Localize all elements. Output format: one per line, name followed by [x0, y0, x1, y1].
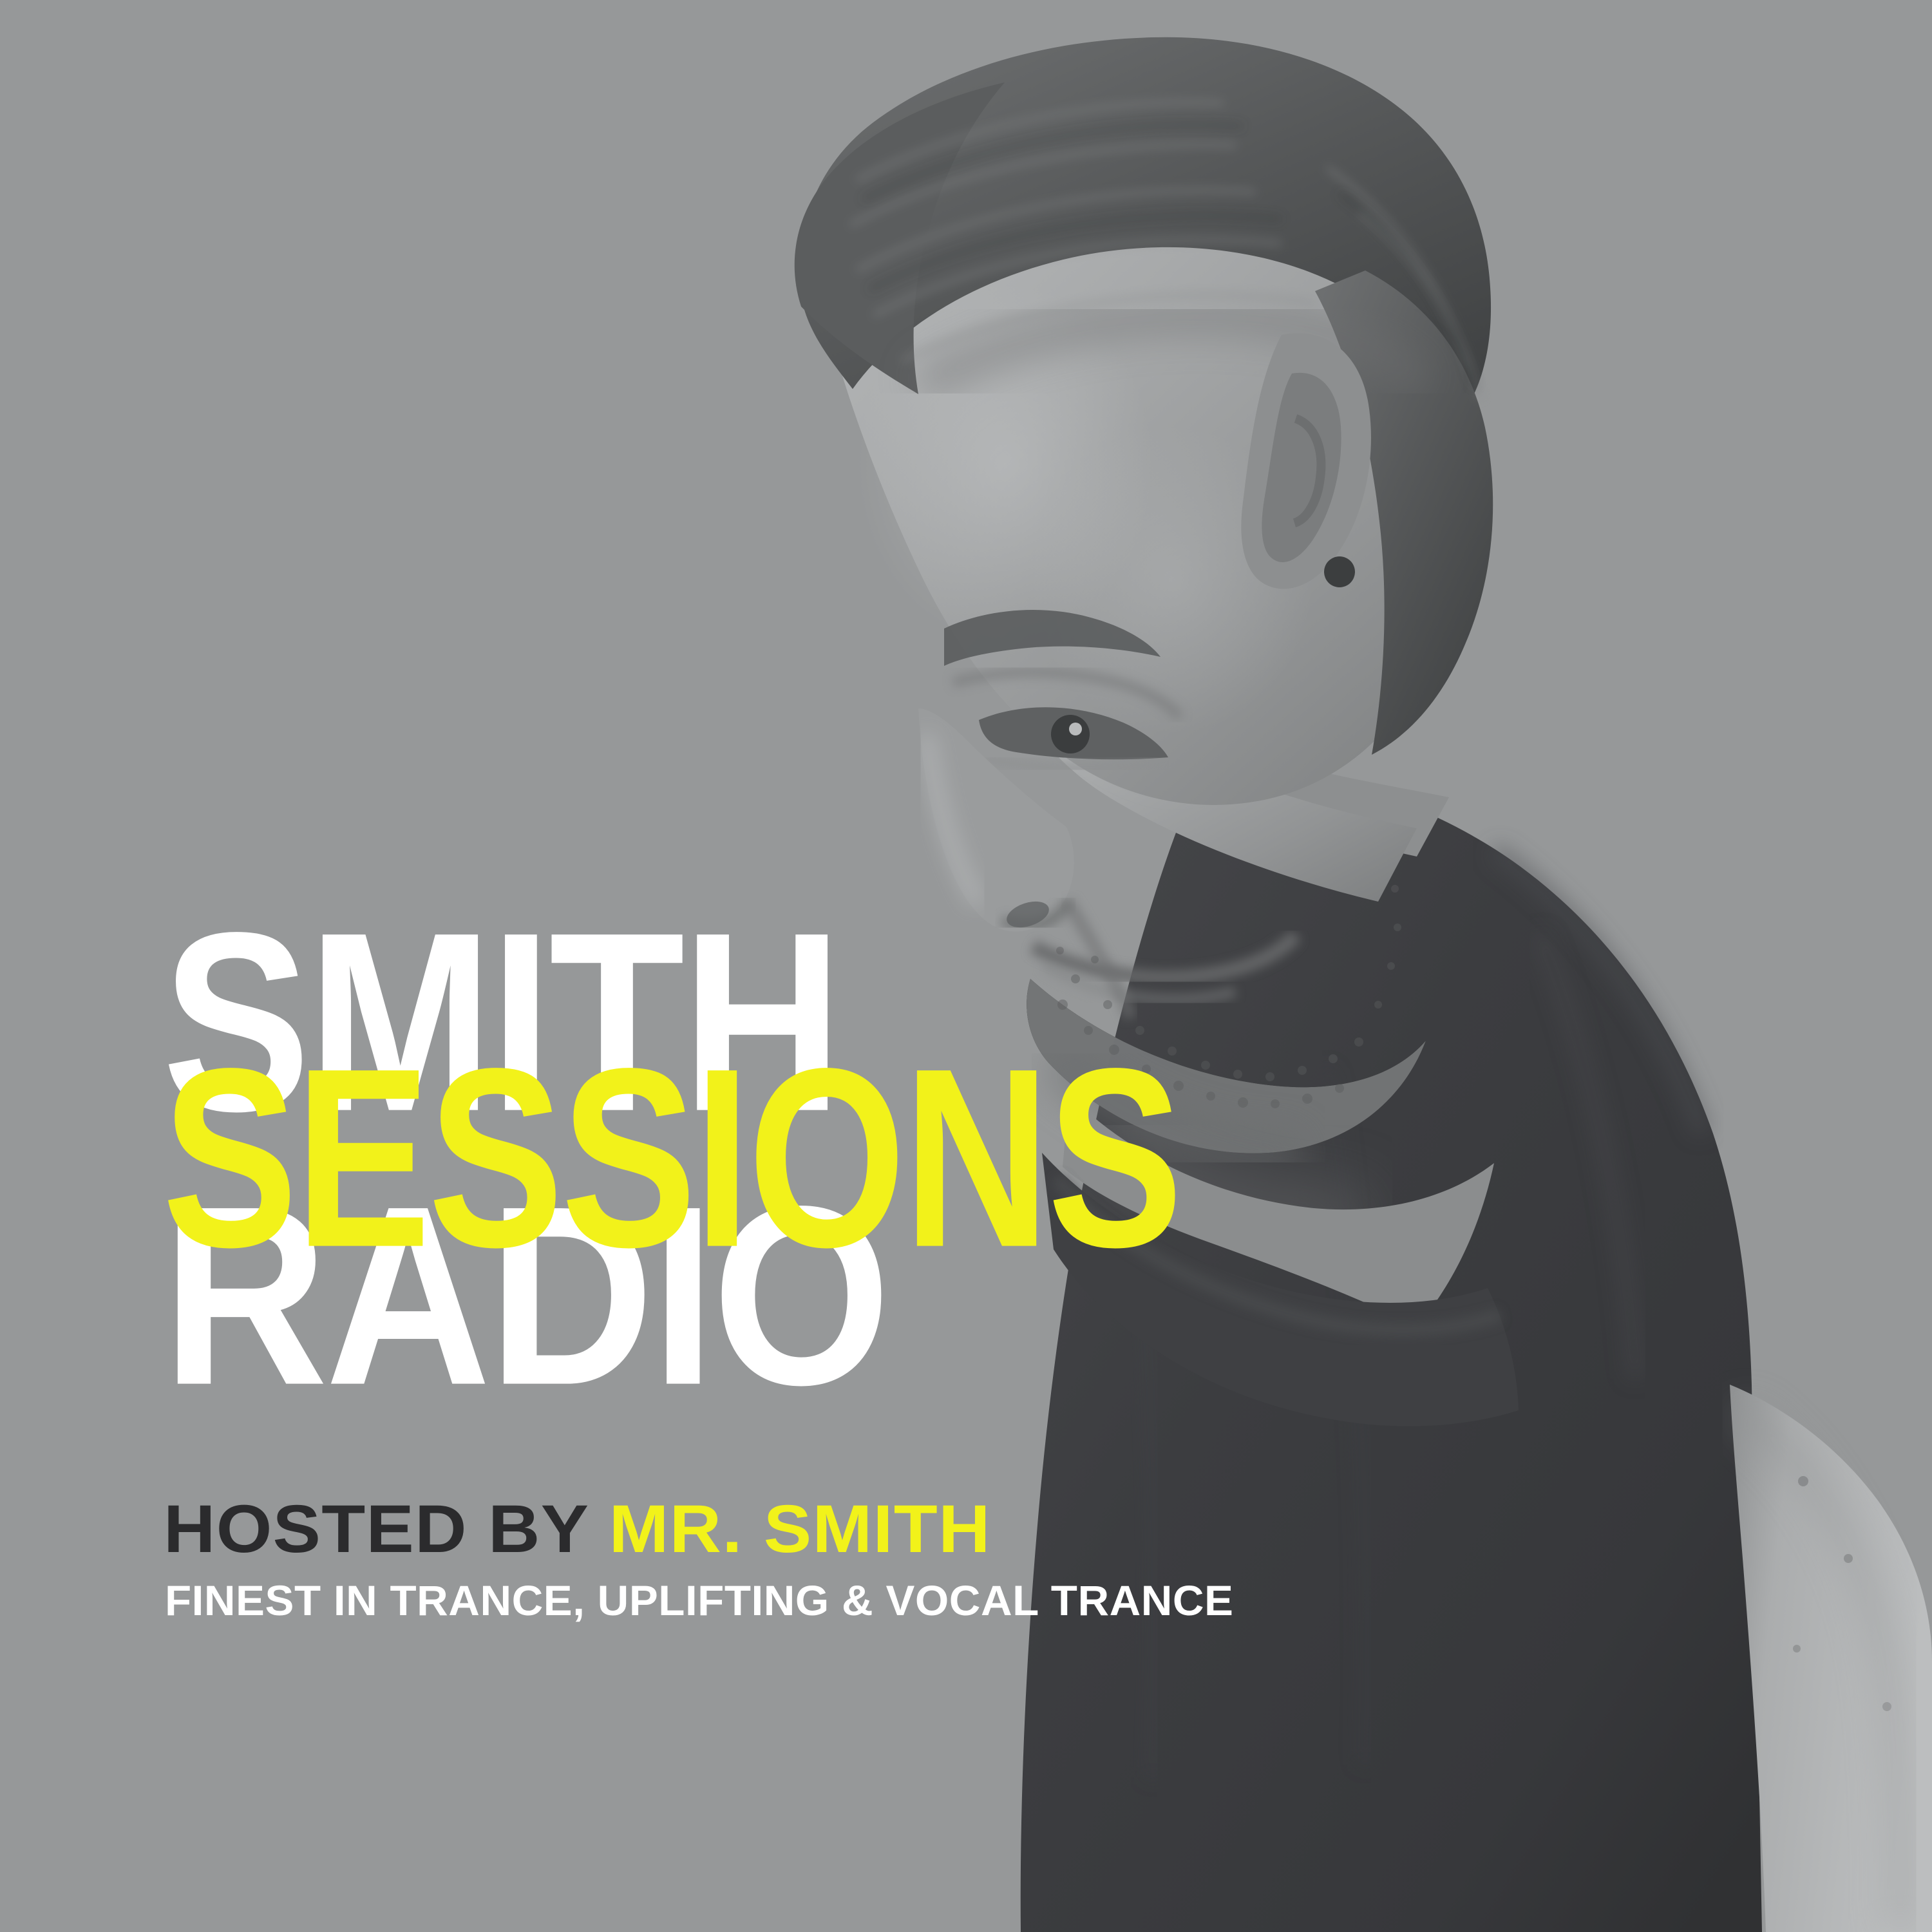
ear-stud-earring — [1324, 556, 1355, 587]
hosted-by-line: HOSTED BY MR. SMITH — [164, 1495, 991, 1563]
skin-mark — [1844, 1554, 1853, 1563]
hosted-by-label: HOSTED BY — [164, 1492, 609, 1567]
host-name: MR. SMITH — [609, 1492, 991, 1567]
skin-mark — [1793, 1645, 1801, 1653]
logo-line-sessions: SESSIONS — [162, 1058, 1638, 1257]
eye-catchlight — [1069, 723, 1082, 735]
skin-mark — [1882, 1702, 1891, 1711]
iris — [1051, 715, 1090, 753]
album-cover-artwork: SMITH SESSIONS RADIO HOSTED BY MR. SMITH… — [0, 0, 1932, 1932]
genre-tagline: FINEST IN TRANCE, UPLIFTING & VOCAL TRAN… — [165, 1579, 1234, 1622]
logo-wordmark: SMITH SESSIONS RADIO — [162, 922, 1708, 1361]
skin-mark — [1798, 1476, 1808, 1486]
